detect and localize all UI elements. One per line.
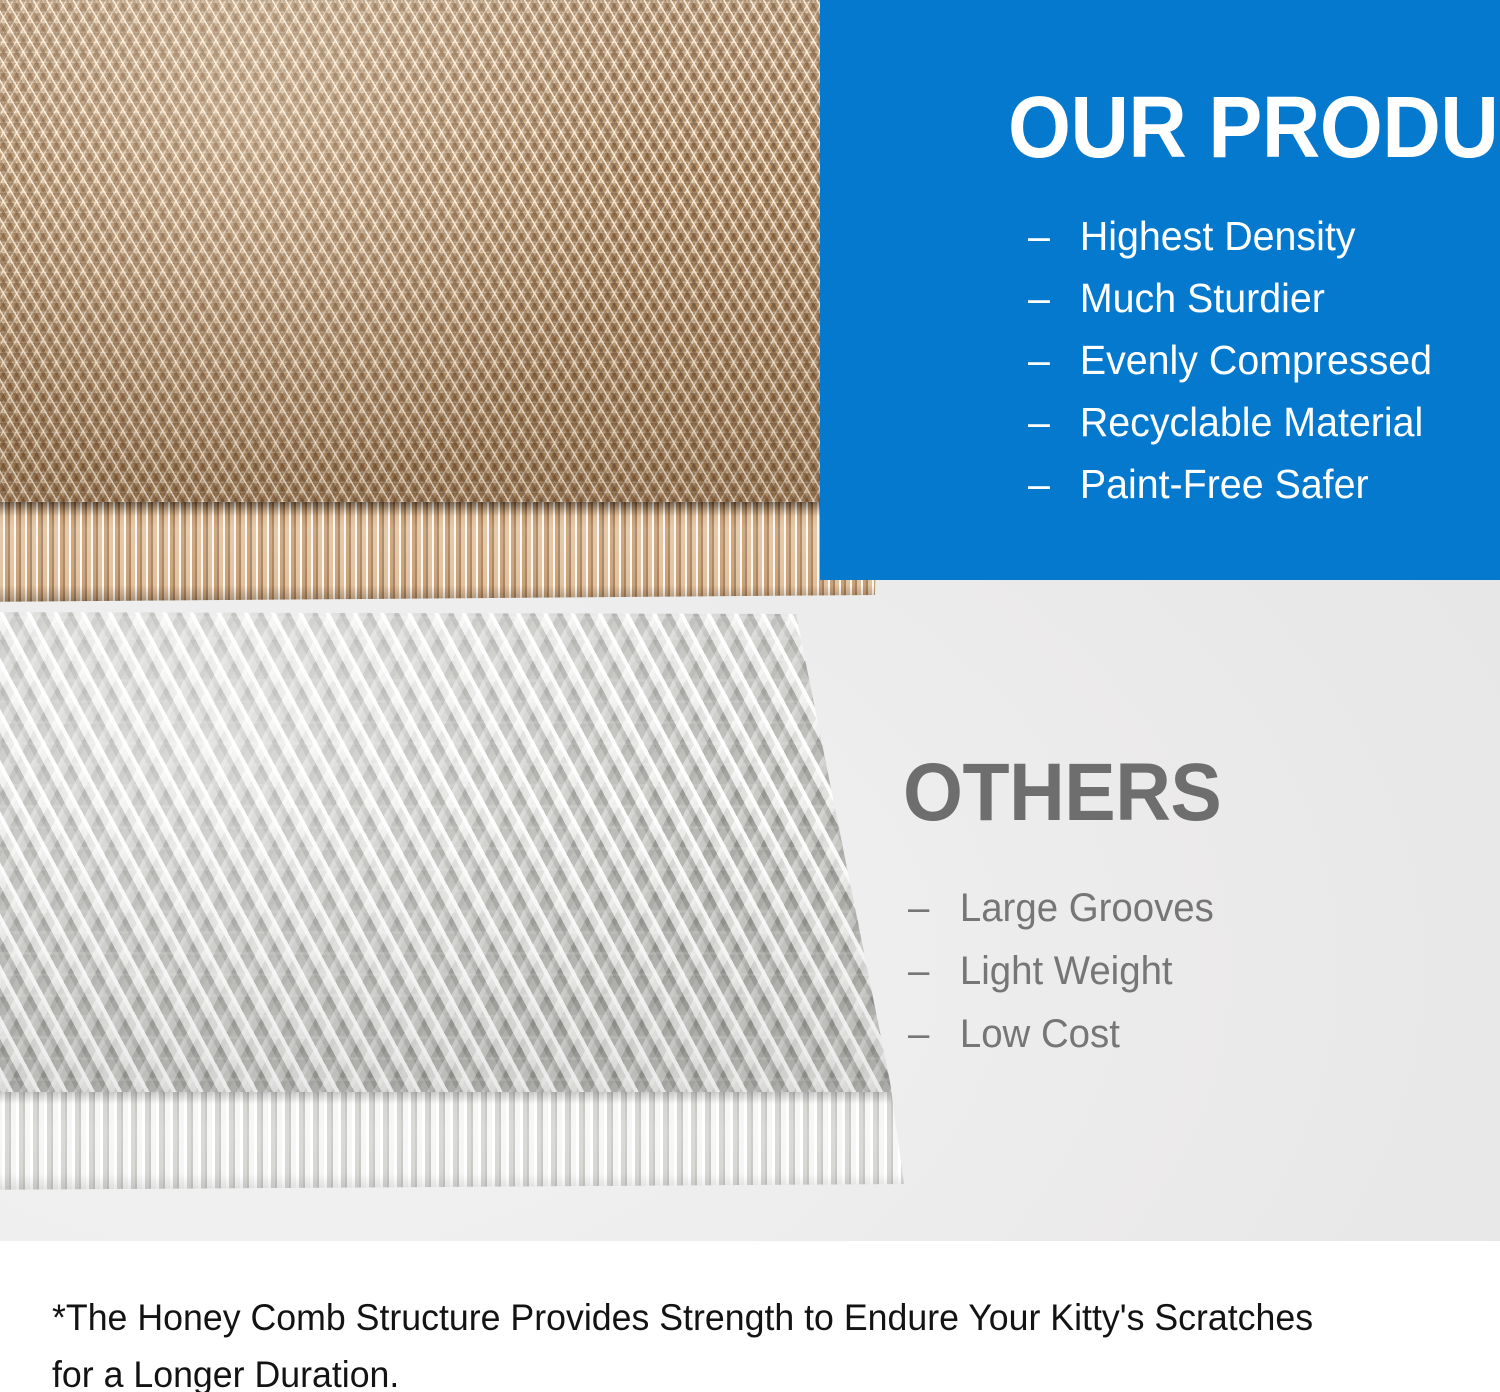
tan-honeycomb-board <box>0 0 900 610</box>
others-feature-item: – Light Weight <box>908 940 1214 1003</box>
dash-bullet-icon: – <box>1028 329 1080 391</box>
our-product-feature-item: – Much Sturdier <box>1028 267 1432 329</box>
others-title: OTHERS <box>903 752 1221 834</box>
our-product-feature-label: Highest Density <box>1080 205 1356 267</box>
others-feature-label: Low Cost <box>960 1003 1120 1066</box>
our-product-feature-item: – Evenly Compressed <box>1028 329 1432 391</box>
our-product-feature-list: – Highest Density – Much Sturdier – Even… <box>1028 205 1449 515</box>
our-product-feature-item: – Paint-Free Safer <box>1028 453 1432 515</box>
others-feature-label: Light Weight <box>960 940 1173 1003</box>
dash-bullet-icon: – <box>1028 391 1080 453</box>
footnote-text: *The Honey Comb Structure Provides Stren… <box>52 1289 1335 1392</box>
tan-honeycomb-surface <box>0 0 900 513</box>
others-feature-list: – Large Grooves – Light Weight – Low Cos… <box>908 877 1227 1066</box>
others-feature-item: – Large Grooves <box>908 877 1214 940</box>
dash-bullet-icon: – <box>1028 453 1080 515</box>
our-product-feature-label: Much Sturdier <box>1080 267 1325 329</box>
white-board-corrugated-edge <box>0 1092 970 1192</box>
our-product-feature-label: Evenly Compressed <box>1080 329 1432 391</box>
product-comparison-stage: OUR PRODUCT – Highest Density – Much Stu… <box>0 0 1500 1241</box>
our-product-feature-label: Recyclable Material <box>1080 391 1423 453</box>
dash-bullet-icon: – <box>1028 267 1080 329</box>
dash-bullet-icon: – <box>908 877 960 940</box>
tan-board-corrugated-edge <box>0 502 900 606</box>
footnote-bar: *The Honey Comb Structure Provides Stren… <box>0 1241 1500 1392</box>
dash-bullet-icon: – <box>1028 205 1080 267</box>
our-product-feature-label: Paint-Free Safer <box>1080 453 1369 515</box>
our-product-title: OUR PRODUCT <box>1008 84 1500 171</box>
dash-bullet-icon: – <box>908 940 960 1003</box>
our-product-feature-item: – Recyclable Material <box>1028 391 1432 453</box>
others-feature-item: – Low Cost <box>908 1003 1214 1066</box>
our-product-feature-item: – Highest Density <box>1028 205 1432 267</box>
our-product-panel: OUR PRODUCT – Highest Density – Much Stu… <box>820 0 1500 580</box>
dash-bullet-icon: – <box>908 1003 960 1066</box>
others-feature-label: Large Grooves <box>960 877 1214 940</box>
comparison-infographic: OUR PRODUCT – Highest Density – Much Stu… <box>0 0 1500 1392</box>
